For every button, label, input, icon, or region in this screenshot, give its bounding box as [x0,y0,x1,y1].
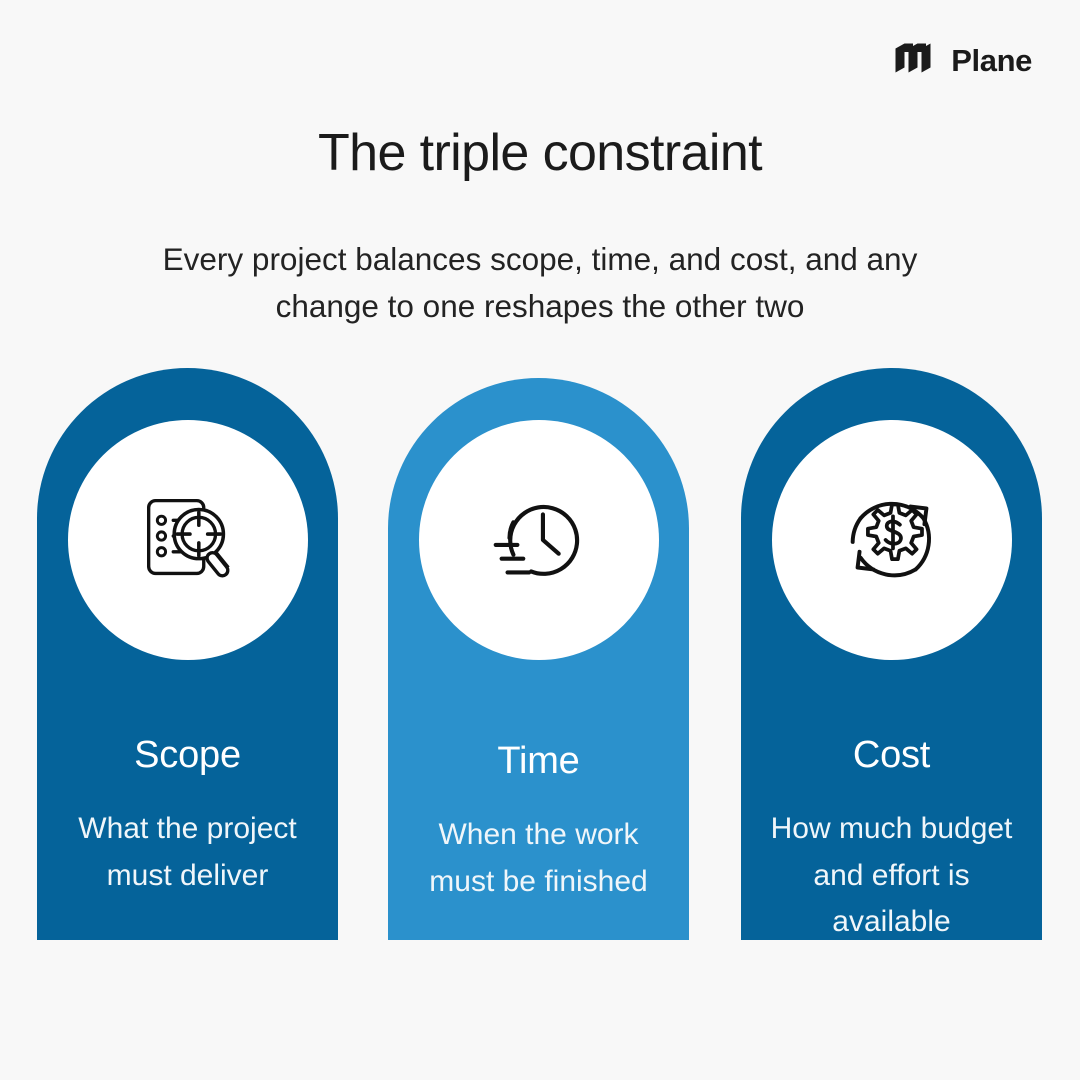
icon-circle-time [419,420,659,660]
icon-circle-scope [68,420,308,660]
card-label-cost: Cost [853,736,930,774]
card-description-scope: What the project must deliver [53,806,323,899]
card-cost: Cost How much budget and effort is avail… [741,368,1042,940]
card-label-time: Time [497,742,579,780]
infographic-page: Plane The triple constraint Every projec… [0,0,1080,1080]
card-time: Time When the work must be finished [388,378,689,940]
card-description-time: When the work must be finished [404,812,674,905]
icon-circle-cost [772,420,1012,660]
clock-speed-lines-icon [480,479,598,602]
card-label-scope: Scope [134,736,241,774]
card-scope: Scope What the project must deliver [37,368,338,940]
constraint-cards: Scope What the project must deliver [0,0,1080,1080]
card-description-cost: How much budget and effort is available [757,806,1027,946]
gear-dollar-cycle-icon [833,479,951,602]
document-magnifier-target-icon [129,479,247,602]
